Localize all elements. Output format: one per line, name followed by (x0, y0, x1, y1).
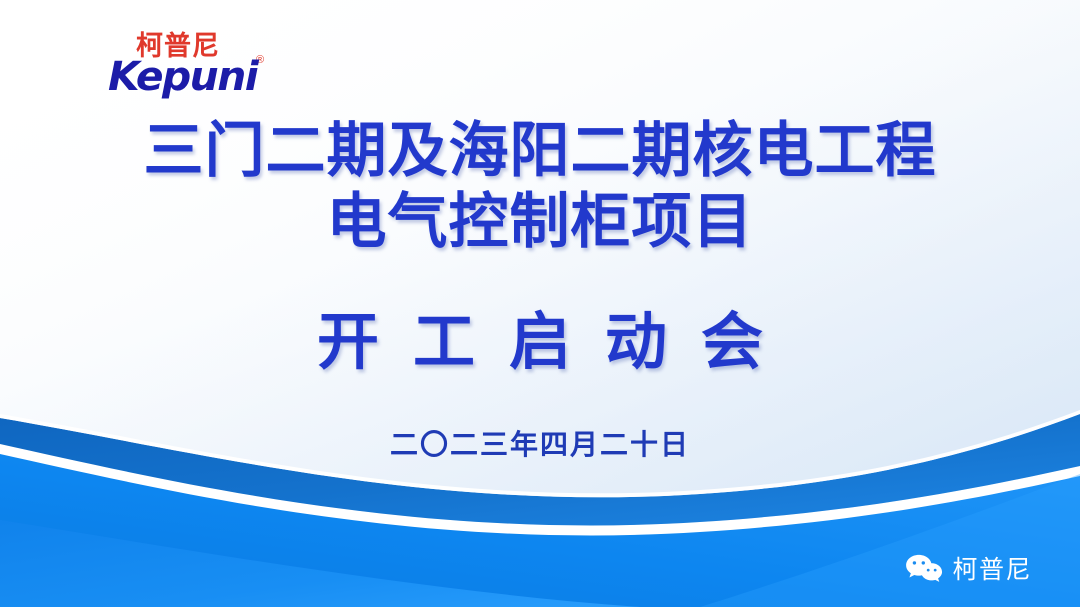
wechat-account-name: 柯普尼 (952, 557, 1032, 582)
wechat-icon (905, 553, 943, 585)
poster-canvas: 柯普尼 ® Kepuni 三门二期及海阳二期核电工程 电气控制柜项目 开工启动会… (0, 0, 1080, 607)
brand-logo-en-text: Kepuni (108, 57, 257, 97)
page-title-line-2: 电气控制柜项目 (0, 189, 1080, 256)
registered-trademark-icon: ® (256, 55, 264, 66)
brand-logo: 柯普尼 ® Kepuni (108, 33, 293, 105)
event-date: 二〇二三年四月二十日 (0, 430, 1080, 461)
page-title: 三门二期及海阳二期核电工程 电气控制柜项目 (0, 118, 1080, 256)
wave-lower-sheen (0, 520, 640, 607)
wechat-account-badge: 柯普尼 (905, 553, 1032, 585)
page-title-line-1: 三门二期及海阳二期核电工程 (0, 118, 1080, 185)
wave-right-sheen (700, 474, 1080, 607)
event-subtitle: 开工启动会 (0, 308, 1080, 376)
